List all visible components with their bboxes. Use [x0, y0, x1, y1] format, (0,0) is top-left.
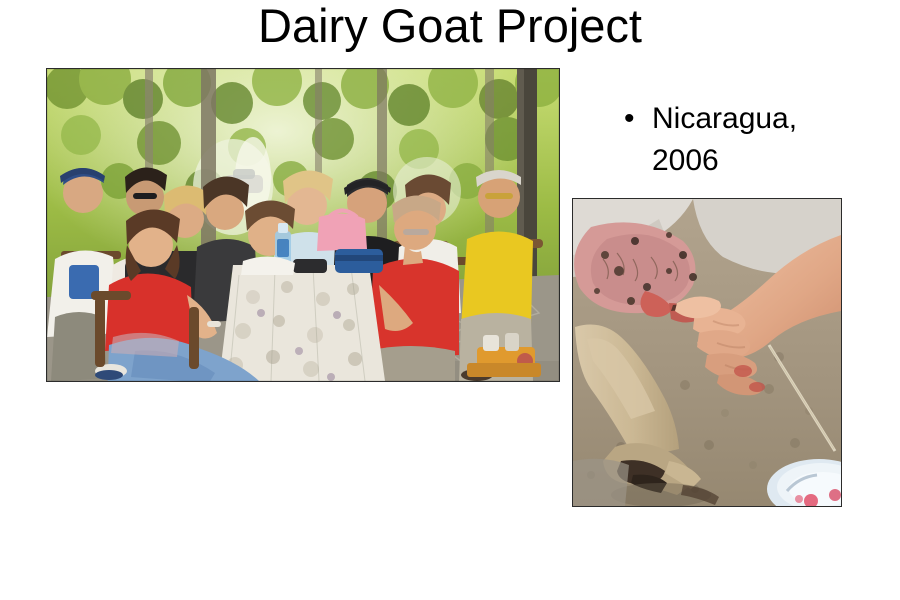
slide-canvas: Dairy Goat Project	[0, 0, 900, 600]
goat-photo-graphic	[573, 199, 841, 506]
bullet-list: • Nicaragua, 2006	[620, 98, 870, 182]
goat-milking-photo	[572, 198, 842, 507]
group-photo-graphic	[47, 69, 559, 381]
page-title: Dairy Goat Project	[0, 2, 900, 50]
goat-photo-canvas	[573, 199, 841, 506]
group-photo	[46, 68, 560, 382]
group-photo-canvas	[47, 69, 559, 381]
bullet-item-label: Nicaragua, 2006	[652, 98, 842, 182]
list-item: • Nicaragua, 2006	[620, 98, 870, 182]
bullet-point-icon: •	[620, 98, 652, 140]
